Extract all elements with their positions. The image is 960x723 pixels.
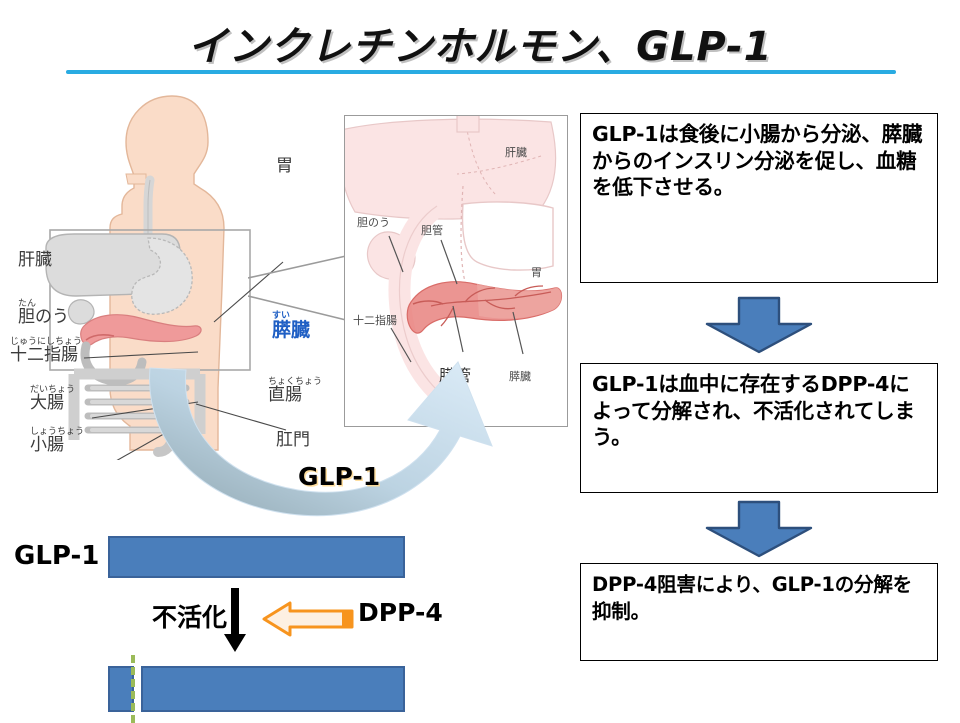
- down-arrow-icon: [701, 500, 817, 558]
- anat-label-gallbladder-text: 胆のう: [18, 307, 69, 327]
- glp1-secretion-arrow-svg: [140, 350, 540, 540]
- flow-arrow-2: [701, 500, 817, 562]
- flow-arrow-1: [701, 296, 817, 358]
- inactivation-arrow: [222, 588, 248, 654]
- inset-label-duodenum: 十二指腸: [353, 312, 397, 328]
- anat-label-small-intestine: しょうちょう 小腸: [30, 428, 84, 454]
- info-box-inhibition-text: DPP-4阻害により、GLP-1の分解を抑制。: [592, 573, 912, 623]
- glp1-secretion-arrow: [140, 350, 540, 540]
- info-box-secretion: GLP-1は食後に小腸から分泌、膵臓からのインスリン分泌を促し、血糖を低下させる…: [580, 113, 938, 283]
- down-arrow-icon: [222, 588, 248, 654]
- peptide-bar-intact: [108, 536, 405, 578]
- down-arrow-icon: [701, 296, 817, 354]
- left-arrow-icon: [262, 600, 354, 638]
- anat-label-stomach-text: 胃: [276, 156, 293, 176]
- anat-label-large-intestine: だいちょう 大腸: [30, 386, 75, 412]
- inset-label-stomach: 胃: [531, 264, 542, 280]
- info-box-secretion-text: GLP-1は食後に小腸から分泌、膵臓からのインスリン分泌を促し、血糖を低下させる…: [592, 122, 922, 199]
- inset-label-gallbladder: 胆のう: [357, 214, 390, 230]
- peptide-fragment-large: [141, 666, 405, 712]
- inset-label-bile-duct: 胆管: [421, 222, 443, 238]
- glp1-arrow-label: GLP-1: [298, 462, 380, 491]
- info-box-degradation: GLP-1は血中に存在するDPP-4によって分解され、不活化されてしまう。: [580, 363, 938, 493]
- anat-label-gallbladder: たん 胆のう: [18, 300, 69, 326]
- zoom-connector-lines: [248, 250, 358, 330]
- inset-label-liver: 肝臓: [505, 144, 527, 160]
- info-box-inhibition: DPP-4阻害により、GLP-1の分解を抑制。: [580, 563, 938, 661]
- inactivation-label: 不活化: [152, 598, 227, 634]
- dpp4-arrow: [262, 600, 354, 638]
- anat-label-large-intestine-text: 大腸: [30, 393, 64, 413]
- anat-label-liver-text: 肝臓: [18, 250, 52, 270]
- peptide-label: GLP-1: [14, 541, 99, 571]
- anat-label-liver: 肝臓: [18, 252, 52, 269]
- cleavage-line: [131, 655, 135, 723]
- info-box-degradation-text: GLP-1は血中に存在するDPP-4によって分解され、不活化されてしまう。: [592, 372, 915, 449]
- anat-label-duodenum-text: 十二指腸: [10, 345, 78, 365]
- anat-label-small-intestine-text: 小腸: [30, 435, 64, 455]
- enzyme-label: DPP-4: [358, 598, 443, 627]
- anat-label-stomach: 胃: [276, 158, 293, 175]
- anat-label-duodenum: じゅうにしちょう 十二指腸: [10, 338, 82, 364]
